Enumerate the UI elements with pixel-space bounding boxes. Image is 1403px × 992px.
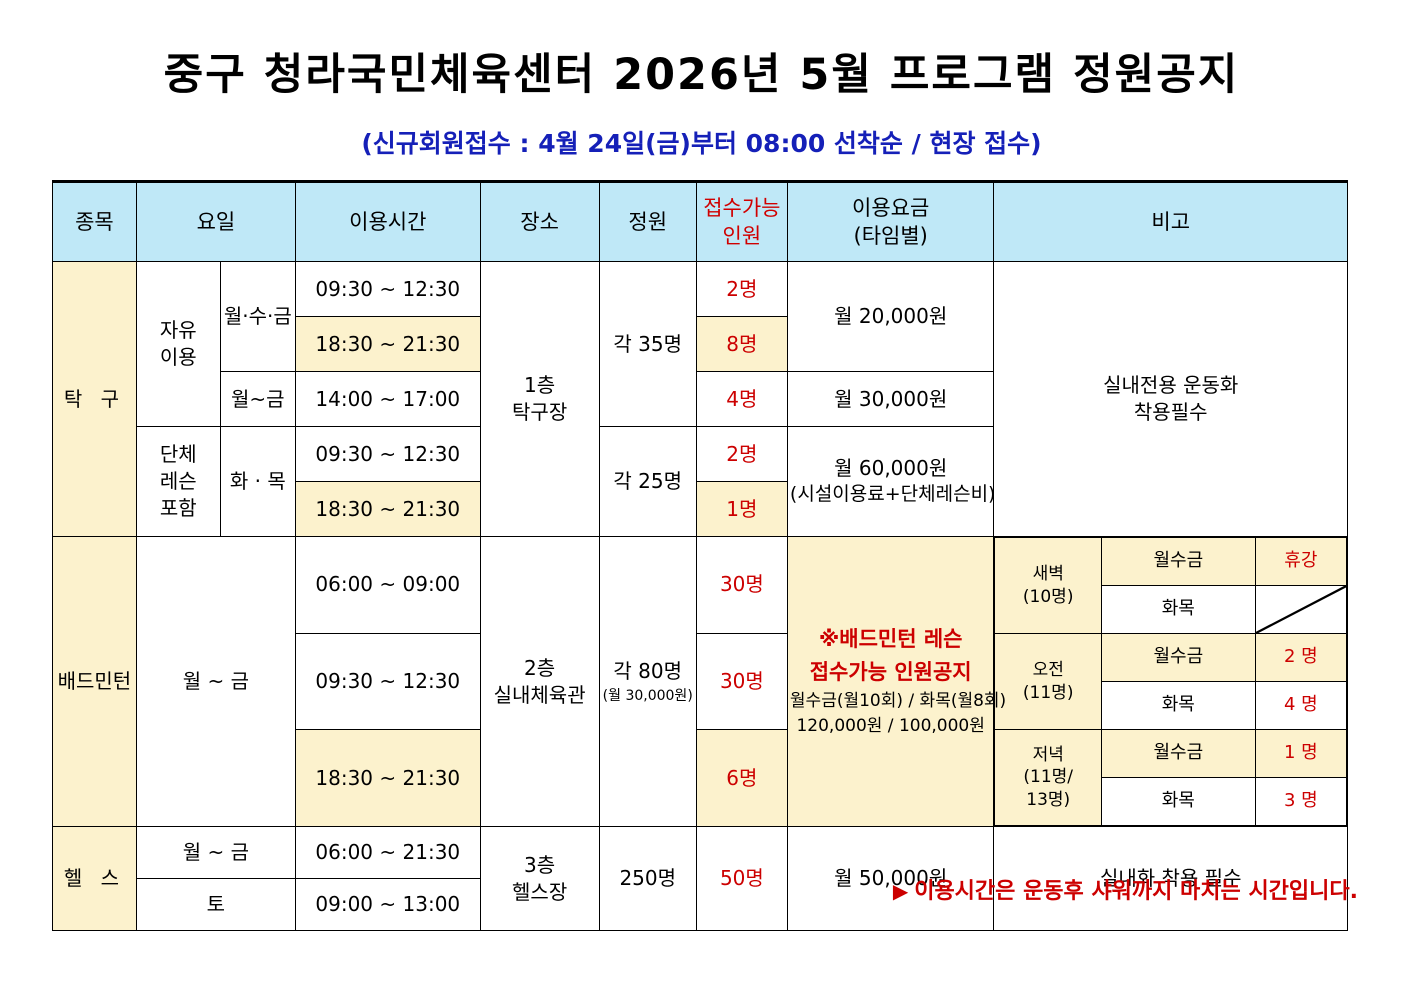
table-header-row: 종목 요일 이용시간 장소 정원 접수가능 인원 이용요금 (타임별) 비고 bbox=[53, 182, 1348, 262]
cell-sport-tabletennis: 탁 구 bbox=[53, 262, 137, 537]
place-line2: 탁구장 bbox=[483, 399, 597, 426]
lesson-days: 월수금 bbox=[1101, 538, 1255, 586]
lesson-row: 저녁 (11명/ 13명) 월수금 1 명 bbox=[995, 730, 1347, 778]
lesson-days: 월수금 bbox=[1101, 730, 1255, 778]
cell-available: 2명 bbox=[696, 427, 787, 482]
lesson-days: 화목 bbox=[1101, 682, 1255, 730]
lesson-slot-morning: 오전 (11명) bbox=[995, 634, 1102, 730]
lesson-count: 3 명 bbox=[1255, 778, 1346, 826]
diagonal-strike-icon bbox=[1256, 586, 1346, 633]
capacity-sub: (월 30,000원) bbox=[602, 687, 694, 706]
col-header-place: 장소 bbox=[480, 182, 599, 262]
lesson-notice-headline-2: 접수가능 인원공지 bbox=[790, 656, 992, 689]
lesson-count: 4 명 bbox=[1255, 682, 1346, 730]
cell-time: 09:30 ~ 12:30 bbox=[295, 427, 480, 482]
page-subtitle: (신규회원접수 : 4월 24일(금)부터 08:00 선착순 / 현장 접수) bbox=[0, 124, 1403, 160]
lesson-slot-dawn: 새벽 (10명) bbox=[995, 538, 1102, 634]
lesson-count-none bbox=[1255, 586, 1346, 634]
cell-place-tabletennis: 1층 탁구장 bbox=[480, 262, 599, 537]
col-header-fee: 이용요금 (타임별) bbox=[787, 182, 994, 262]
cell-available: 8명 bbox=[696, 317, 787, 372]
col-header-capacity: 정원 bbox=[599, 182, 696, 262]
col-header-time: 이용시간 bbox=[295, 182, 480, 262]
fee-main: 월 60,000원 bbox=[790, 455, 992, 482]
cell-time: 06:00 ~ 09:00 bbox=[295, 537, 480, 634]
cell-capacity-80: 각 80명 (월 30,000원) bbox=[599, 537, 696, 827]
col-header-available-line2: 인원 bbox=[699, 222, 785, 250]
table-row: 탁 구 자유 이용 월·수·금 09:30 ~ 12:30 1층 탁구장 각 3… bbox=[53, 262, 1348, 317]
cell-available: 30명 bbox=[696, 537, 787, 634]
fee-sub: (시설이용료+단체레슨비) bbox=[790, 482, 992, 508]
lesson-slot-morning-line1: 오전 bbox=[996, 659, 1100, 681]
program-notice-page: 중구 청라국민체육센터 2026년 5월 프로그램 정원공지 (신규회원접수 :… bbox=[0, 0, 1403, 992]
lesson-days: 화목 bbox=[1101, 778, 1255, 826]
lesson-days: 월수금 bbox=[1101, 634, 1255, 682]
page-title: 중구 청라국민체육센터 2026년 5월 프로그램 정원공지 bbox=[0, 40, 1403, 102]
lesson-slot-morning-line2: (11명) bbox=[996, 682, 1100, 704]
cell-days-badminton: 월 ~ 금 bbox=[136, 537, 295, 827]
table-row: 헬 스 월 ~ 금 06:00 ~ 21:30 3층 헬스장 250명 50명 … bbox=[53, 827, 1348, 879]
cell-fee-30000: 월 30,000원 bbox=[787, 372, 994, 427]
cell-fee-60000: 월 60,000원 (시설이용료+단체레슨비) bbox=[787, 427, 994, 537]
cell-remark-tabletennis: 실내전용 운동화 착용필수 bbox=[994, 262, 1348, 537]
lesson-notice-line-1: 월수금(월10회) / 화목(월8회) bbox=[790, 689, 992, 715]
triangle-marker-icon: ▶ bbox=[893, 879, 908, 903]
cell-days-mwf: 월·수·금 bbox=[220, 262, 295, 372]
badminton-lesson-table: 새벽 (10명) 월수금 휴강 화목 bbox=[994, 537, 1347, 826]
cell-capacity-35: 각 35명 bbox=[599, 262, 696, 427]
cell-time: 09:30 ~ 12:30 bbox=[295, 633, 480, 730]
cell-available: 4명 bbox=[696, 372, 787, 427]
lesson-row: 오전 (11명) 월수금 2 명 bbox=[995, 634, 1347, 682]
usetype-group-line3: 포함 bbox=[139, 495, 218, 522]
lesson-slot-evening-line1: 저녁 bbox=[996, 744, 1100, 766]
usetype-group-line2: 레슨 bbox=[139, 468, 218, 495]
col-header-available: 접수가능 인원 bbox=[696, 182, 787, 262]
cell-time: 06:00 ~ 21:30 bbox=[295, 827, 480, 879]
cell-available: 30명 bbox=[696, 633, 787, 730]
cell-sport-badminton: 배드민턴 bbox=[53, 537, 137, 827]
lesson-notice-headline-1: ※배드민턴 레슨 bbox=[790, 623, 992, 656]
cell-time: 09:30 ~ 12:30 bbox=[295, 262, 480, 317]
cell-remark-badminton: 새벽 (10명) 월수금 휴강 화목 bbox=[994, 537, 1348, 827]
cell-time: 18:30 ~ 21:30 bbox=[295, 482, 480, 537]
footer-note-text: 이용시간은 운동후 샤워까지 마치는 시간입니다. bbox=[914, 879, 1358, 904]
cell-available: 2명 bbox=[696, 262, 787, 317]
lesson-count-suspended: 휴강 bbox=[1255, 538, 1346, 586]
cell-badminton-lesson-notice: ※배드민턴 레슨 접수가능 인원공지 월수금(월10회) / 화목(월8회) 1… bbox=[787, 537, 994, 827]
lesson-slot-dawn-line1: 새벽 bbox=[996, 563, 1100, 585]
col-header-available-line1: 접수가능 bbox=[699, 194, 785, 222]
cell-days-monfri: 월~금 bbox=[220, 372, 295, 427]
table-row: 배드민턴 월 ~ 금 06:00 ~ 09:00 2층 실내체육관 각 80명 … bbox=[53, 537, 1348, 634]
remark-line2: 착용필수 bbox=[996, 399, 1345, 426]
usetype-group-line1: 단체 bbox=[139, 441, 218, 468]
lesson-slot-dawn-line2: (10명) bbox=[996, 586, 1100, 608]
place-line1: 1층 bbox=[483, 372, 597, 399]
cell-usetype-free: 자유 이용 bbox=[136, 262, 220, 427]
lesson-count: 1 명 bbox=[1255, 730, 1346, 778]
cell-time: 18:30 ~ 21:30 bbox=[295, 317, 480, 372]
cell-available: 1명 bbox=[696, 482, 787, 537]
cell-capacity-25: 각 25명 bbox=[599, 427, 696, 537]
lesson-row: 새벽 (10명) 월수금 휴강 bbox=[995, 538, 1347, 586]
cell-fee-20000: 월 20,000원 bbox=[787, 262, 994, 372]
lesson-slot-evening: 저녁 (11명/ 13명) bbox=[995, 730, 1102, 826]
place-line2: 실내체육관 bbox=[483, 682, 597, 709]
cell-place-badminton: 2층 실내체육관 bbox=[480, 537, 599, 827]
cell-time: 18:30 ~ 21:30 bbox=[295, 730, 480, 827]
cell-available: 6명 bbox=[696, 730, 787, 827]
place-line1: 2층 bbox=[483, 655, 597, 682]
col-header-fee-line1: 이용요금 bbox=[790, 194, 992, 222]
footer-note: ▶이용시간은 운동후 샤워까지 마치는 시간입니다. bbox=[0, 873, 1358, 905]
capacity-main: 각 80명 bbox=[602, 658, 694, 685]
col-header-sport: 종목 bbox=[53, 182, 137, 262]
col-header-remark: 비고 bbox=[994, 182, 1348, 262]
cell-days-tuethu: 화 · 목 bbox=[220, 427, 295, 537]
lesson-slot-evening-line2: (11명/ bbox=[996, 766, 1100, 788]
program-table: 종목 요일 이용시간 장소 정원 접수가능 인원 이용요금 (타임별) 비고 bbox=[52, 180, 1348, 931]
lesson-days: 화목 bbox=[1101, 586, 1255, 634]
remark-line1: 실내전용 운동화 bbox=[996, 372, 1345, 399]
lesson-count: 2 명 bbox=[1255, 634, 1346, 682]
cell-time: 14:00 ~ 17:00 bbox=[295, 372, 480, 427]
program-table-wrapper: 종목 요일 이용시간 장소 정원 접수가능 인원 이용요금 (타임별) 비고 bbox=[52, 180, 1348, 931]
lesson-notice-line-2: 120,000원 / 100,000원 bbox=[790, 714, 992, 740]
usetype-free-line2: 이용 bbox=[139, 344, 218, 371]
col-header-day: 요일 bbox=[136, 182, 295, 262]
cell-usetype-grouplesson: 단체 레슨 포함 bbox=[136, 427, 220, 537]
usetype-free-line1: 자유 bbox=[139, 317, 218, 344]
lesson-slot-evening-line3: 13명) bbox=[996, 789, 1100, 811]
col-header-fee-line2: (타임별) bbox=[790, 222, 992, 250]
cell-days-monfri: 월 ~ 금 bbox=[136, 827, 295, 879]
